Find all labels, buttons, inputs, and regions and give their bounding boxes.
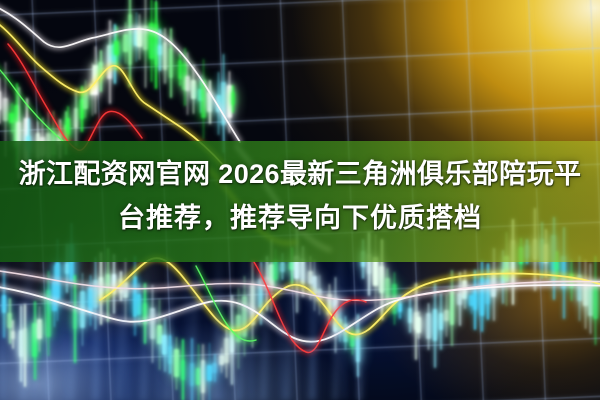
banner-image: 浙江配资网官网 2026最新三角洲俱乐部陪玩平 台推荐，推荐导向下优质搭档 [0, 0, 600, 400]
headline-band-tint [0, 141, 600, 262]
